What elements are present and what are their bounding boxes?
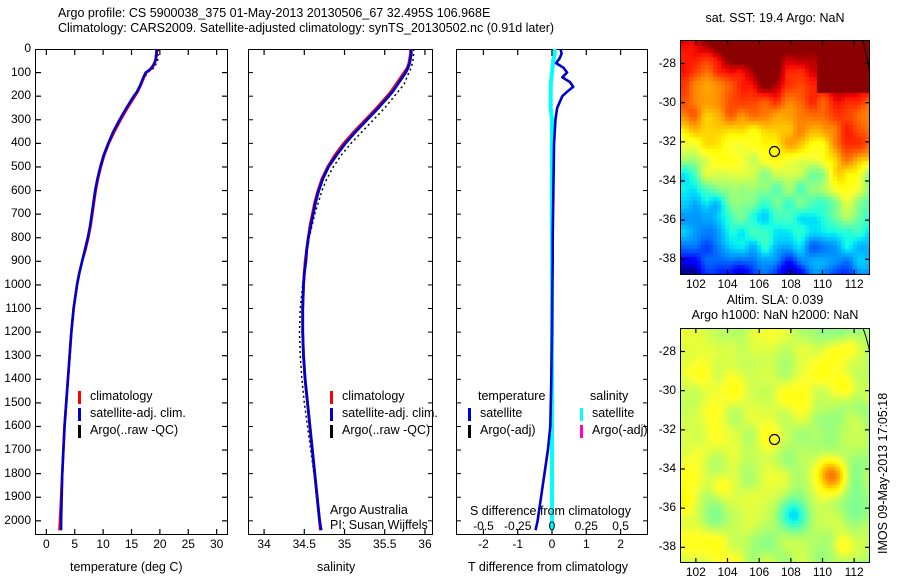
axis-tick-label: -1 [512,537,523,551]
axis-tick-label: 102 [686,277,706,291]
sla-map-overlay [680,328,870,563]
temperature-y-axis-ticklabels: 0100200300400500600700800900100011001200… [0,49,33,535]
axis-tick-label: 400 [11,135,31,149]
axis-tick-label: 1500 [4,395,31,409]
axis-tick-label: -36 [659,212,676,226]
axis-tick-label: 100 [11,65,31,79]
legend-swatch-satellite-adj [78,408,81,421]
page-title-line1: Argo profile: CS 5900038_375 01-May-2013… [58,6,490,21]
salinity-x-axis-label: salinity [317,560,355,574]
axis-tick-label: 36 [418,537,431,551]
axis-tick-label: -32 [659,134,676,148]
legend-label-satellite-adj: satellite-adj. clim. [90,406,186,420]
axis-tick-label: 108 [781,565,801,579]
axis-tick-label: 1700 [4,442,31,456]
axis-tick-label: 200 [11,88,31,102]
temperature-x-axis-label: temperature (deg C) [70,560,183,574]
sla-map-title-line2: Argo h1000: NaN h2000: NaN [660,308,890,322]
axis-tick-label: -32 [659,422,676,436]
axis-tick-label: 0 [549,519,556,533]
axis-tick-label: 34.5 [293,537,316,551]
axis-tick-label: 1900 [4,489,31,503]
legend-swatch-temperature-satellite [468,408,471,421]
salinity-x-axis-ticklabels: 3434.53535.536 [248,537,433,553]
axis-tick-label: 700 [11,206,31,220]
axis-tick-label: 110 [813,277,832,291]
axis-tick-label: -36 [659,500,676,514]
difference-salinity-ticklabels: -0.5-0.2500.250.5 [456,519,648,535]
axis-tick-label: -38 [659,251,676,265]
legend-label-argo-raw: Argo(..raw -QC) [90,423,178,437]
axis-tick-label: -30 [659,383,676,397]
legend-label-climatology: climatology [342,389,405,403]
axis-tick-label: 2000 [4,513,31,527]
sla-map-x-ticklabels: 102104106108110112 [680,565,870,581]
legend-label-salinity-satellite: satellite [592,406,634,420]
axis-tick-label: 112 [845,565,864,579]
legend-label-temperature-argo-adj: Argo(-adj) [480,423,536,437]
axis-tick-label: 1300 [4,348,31,362]
axis-tick-label: 104 [717,565,737,579]
axis-tick-label: 104 [717,277,737,291]
salinity-profile-plot [248,49,433,535]
axis-tick-label: 15 [125,537,138,551]
difference-profile-plot [456,49,648,535]
axis-tick-label: -28 [659,344,676,358]
difference-salinity-axis-label: S difference from climatology [470,504,631,518]
temperature-profile-plot [35,49,228,535]
axis-tick-label: 1400 [4,371,31,385]
legend-label-climatology: climatology [90,389,153,403]
sla-map-y-ticklabels: -28-30-32-34-36-38 [650,328,678,563]
sst-map-x-ticklabels: 102104106108110112 [680,277,870,293]
imos-timestamp-watermark: IMOS 09-May-2013 17:05:18 [876,554,900,568]
axis-tick-label: 0 [43,537,50,551]
axis-tick-label: 1 [583,537,590,551]
sst-map-title: sat. SST: 19.4 Argo: NaN [680,11,870,25]
axis-tick-label: 0.5 [612,519,629,533]
axis-tick-label: 110 [813,565,832,579]
legend-label-salinity-argo-adj: Argo(-adj) [592,423,648,437]
axis-tick-label: 1200 [4,324,31,338]
axis-tick-label: 1100 [5,301,31,315]
legend-swatch-salinity-argo-adj [580,425,583,438]
axis-tick-label: 10 [96,537,109,551]
legend-swatch-climatology [330,391,333,404]
axis-tick-label: -34 [659,173,676,187]
difference-temperature-axis-label: T difference from climatology [468,560,628,574]
legend-label-argo-raw: Argo(..raw -QC) [342,423,430,437]
credit-line2: PI: Susan Wijffels [330,518,428,532]
axis-tick-label: 300 [11,112,31,126]
axis-tick-label: -2 [478,537,489,551]
axis-tick-label: 112 [845,277,864,291]
axis-tick-label: -30 [659,95,676,109]
legend-label-temperature-satellite: satellite [480,406,522,420]
legend-swatch-salinity-satellite [580,408,583,421]
axis-tick-label: 102 [686,565,706,579]
difference-temperature-ticklabels: -2-1012 [456,537,648,553]
axis-tick-label: 34 [257,537,270,551]
axis-tick-label: 25 [182,537,195,551]
page-title-line2: Climatology: CARS2009. Satellite-adjuste… [58,21,554,36]
axis-tick-label: 5 [71,537,78,551]
axis-tick-label: -0.25 [504,519,531,533]
axis-tick-label: 20 [153,537,166,551]
legend-swatch-argo-raw [330,425,333,438]
legend-label-satellite-adj: satellite-adj. clim. [342,406,438,420]
axis-tick-label: 0.25 [575,519,598,533]
axis-tick-label: 900 [11,253,31,267]
sla-map-title-line1: Altim. SLA: 0.039 [680,293,870,307]
axis-tick-label: 106 [749,565,769,579]
axis-tick-label: 35 [338,537,351,551]
axis-tick-label: -38 [659,539,676,553]
sst-map-y-ticklabels: -28-30-32-34-36-38 [650,40,678,275]
axis-tick-label: -28 [659,56,676,70]
legend-swatch-argo-raw [78,425,81,438]
axis-tick-label: 0 [549,537,556,551]
sst-map-overlay [680,40,870,275]
legend-swatch-climatology [78,391,81,404]
legend-group-temperature: temperature [478,389,545,403]
temperature-x-axis-ticklabels: 051015202530 [35,537,228,553]
axis-tick-label: -0.5 [473,519,494,533]
axis-tick-label: 106 [749,277,769,291]
imos-timestamp-text: IMOS 09-May-2013 17:05:18 [876,393,890,554]
axis-tick-label: 500 [11,159,31,173]
credit-line1: Argo Australia [330,503,408,517]
legend-swatch-satellite-adj [330,408,333,421]
legend-group-salinity: salinity [590,389,628,403]
axis-tick-label: 108 [781,277,801,291]
axis-tick-label: 1600 [4,418,31,432]
legend-swatch-temperature-argo-adj [468,425,471,438]
axis-tick-label: 1800 [4,466,31,480]
axis-tick-label: -34 [659,461,676,475]
axis-tick-label: 2 [617,537,624,551]
axis-tick-label: 600 [11,183,31,197]
axis-tick-label: 35.5 [373,537,396,551]
axis-tick-label: 0 [24,41,31,55]
axis-tick-label: 30 [210,537,223,551]
axis-tick-label: 800 [11,230,31,244]
axis-tick-label: 1000 [4,277,31,291]
